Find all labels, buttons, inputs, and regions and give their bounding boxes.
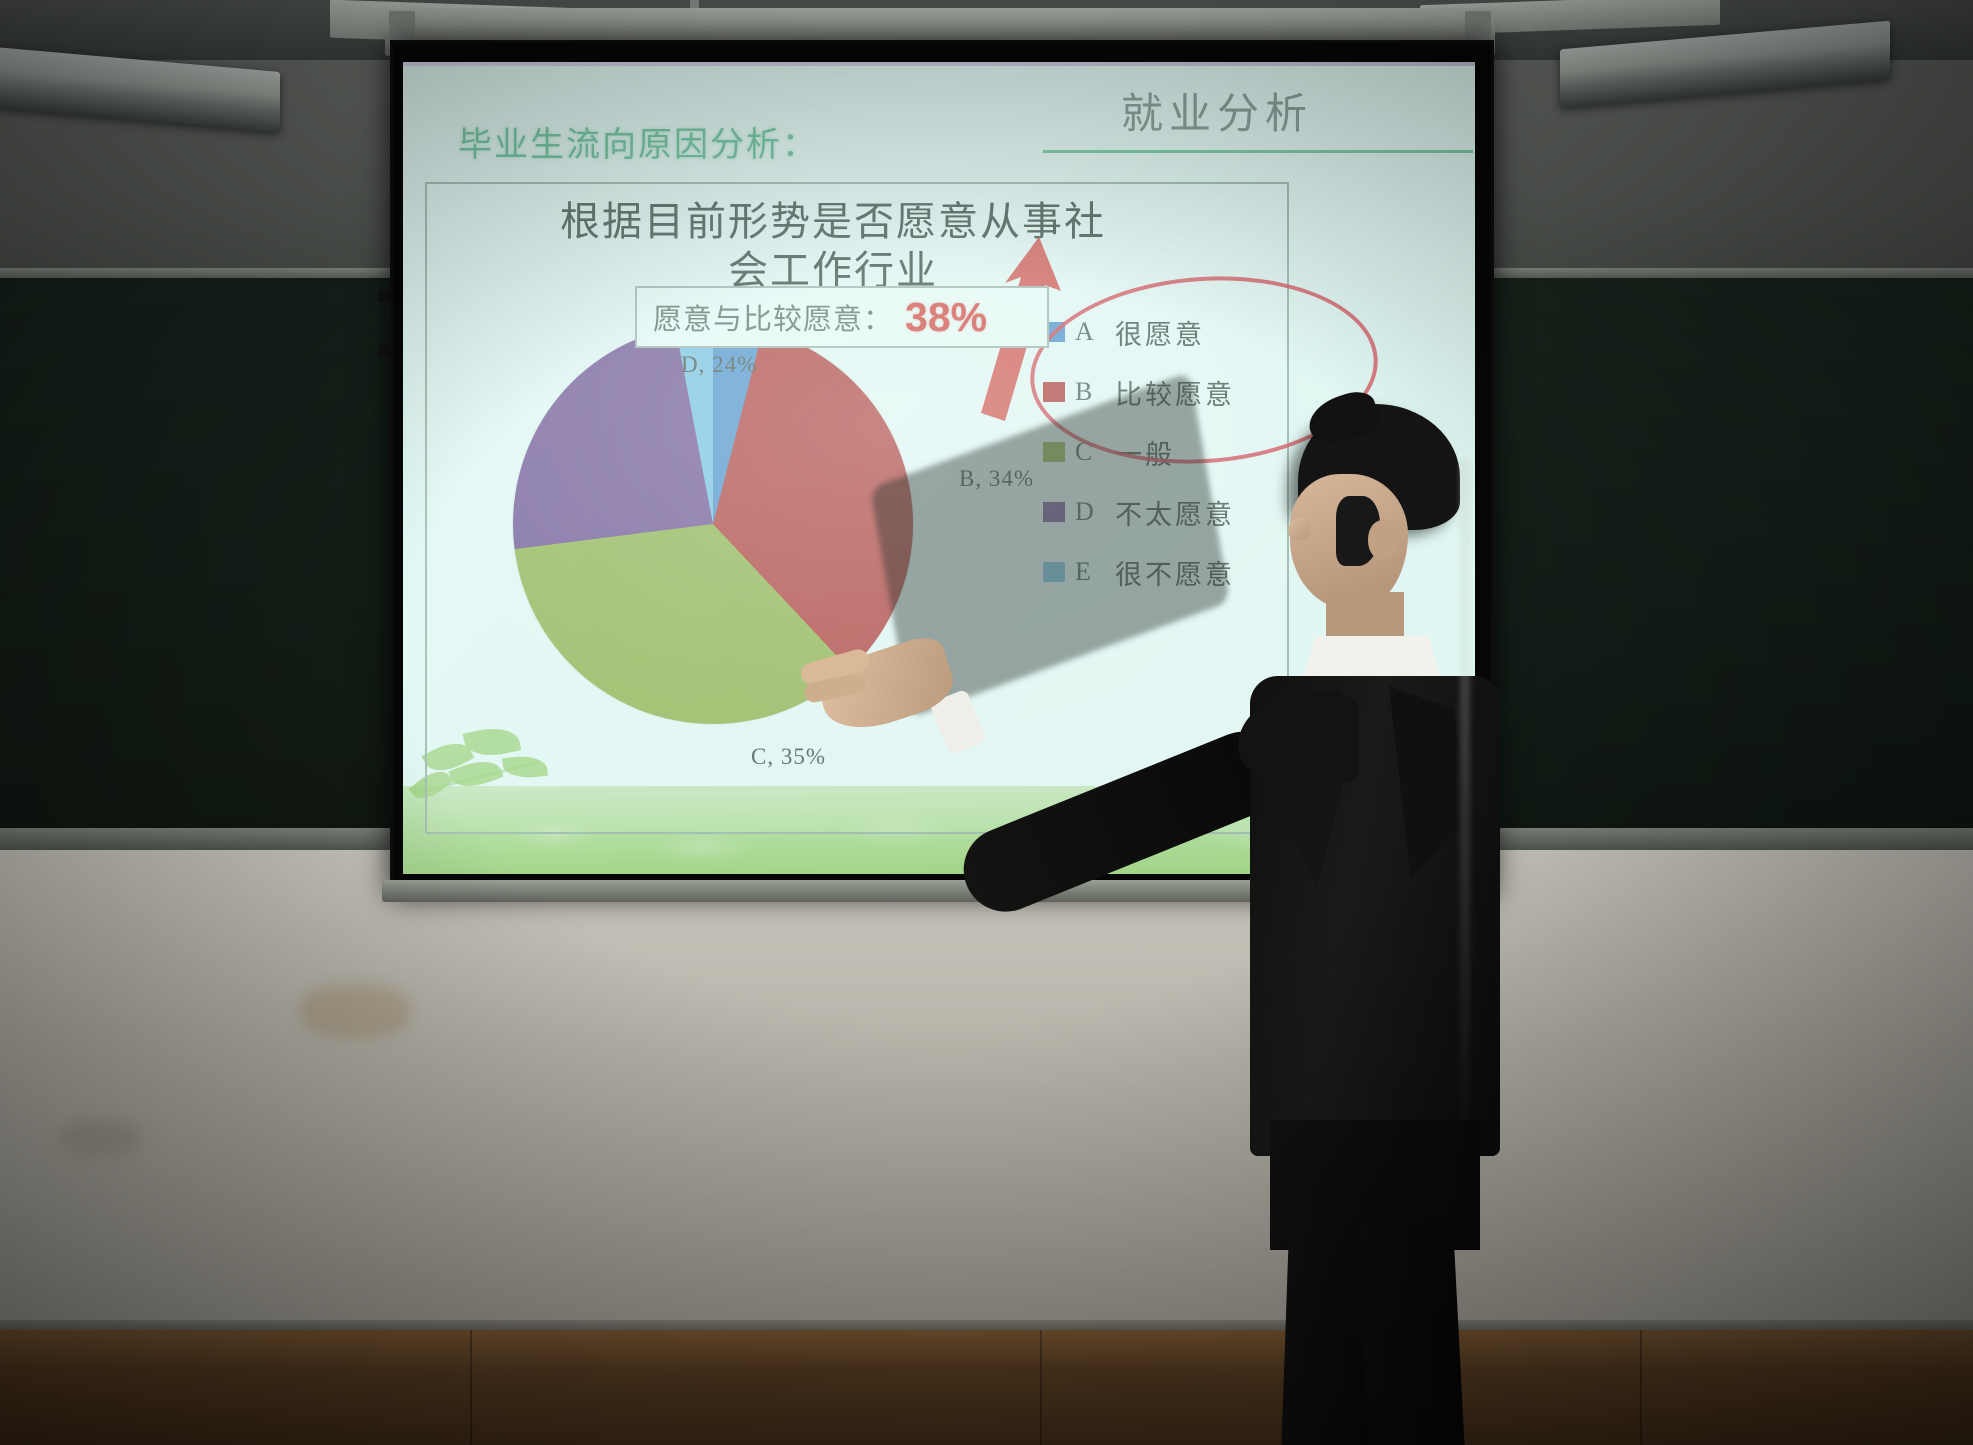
pie-label-d: D, 24% [681,352,757,378]
wall-stain-secondary [60,1120,140,1156]
classroom-scene: 毕业生流向原因分析： 就业分析 根据目前形势是否愿意从事社 会工作行业 E, 3… [0,0,1973,1445]
slide-top-edge [403,62,1475,66]
presenter-nose [1288,518,1310,540]
screen-clip [378,345,390,357]
blackboard-left-panel [0,278,400,838]
floor-highlight [0,1330,1973,1370]
presenter-ear [1368,520,1398,560]
slide-header-left: 毕业生流向原因分析： [458,117,818,166]
pie-label-c: C, 35% [751,744,826,770]
floor-seam [1640,1330,1642,1445]
slide-header-rule [1043,150,1473,153]
chart-title: 根据目前形势是否愿意从事社 会工作行业 [433,198,1233,296]
highlight-callout-box: 愿意与比较愿意： 38% [635,286,1049,348]
slide-header-right: 就业分析 [1121,80,1313,141]
presenter-leg-right [1357,1218,1475,1445]
blackboard-right-panel [1480,278,1973,838]
floor-seam [1040,1330,1042,1445]
chart-title-line-1: 根据目前形势是否愿意从事社 [433,198,1233,247]
screen-clip [378,290,390,302]
callout-value: 38% [905,294,987,341]
wall-stain [300,985,410,1037]
presenter [1130,400,1550,1445]
floor-seam [470,1330,472,1445]
presenter-rim-light [1460,460,1470,1160]
lower-wall [0,850,1973,1330]
callout-label: 愿意与比较愿意： [653,296,893,338]
